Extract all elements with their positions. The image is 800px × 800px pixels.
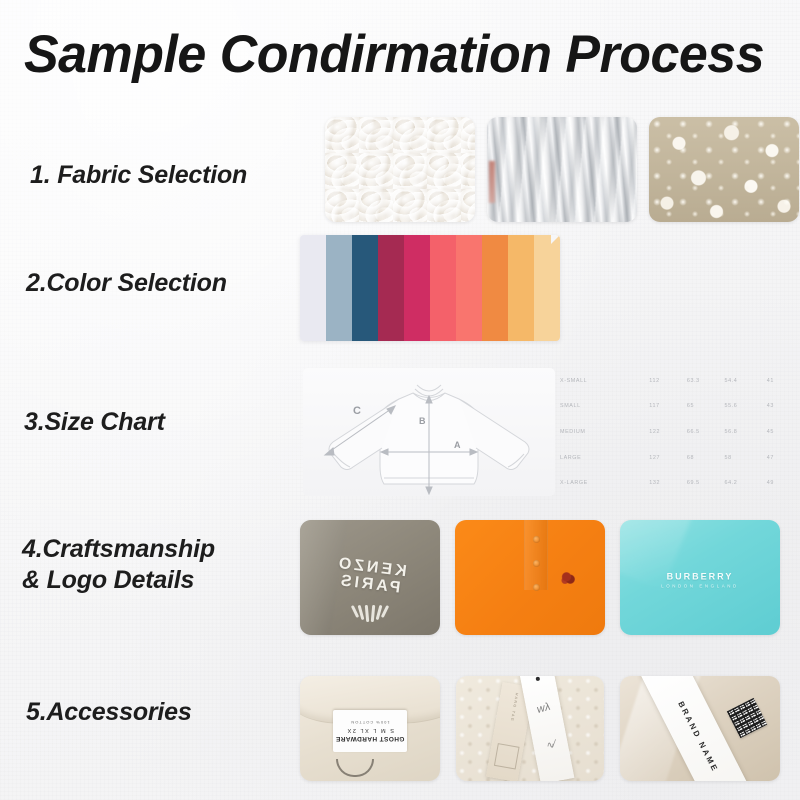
size-table-cell: X-SMALL (560, 378, 649, 384)
size-table-cell: 64.2 (724, 480, 766, 486)
measure-label-c: C (353, 405, 361, 417)
embroidered-crest-logo (560, 572, 575, 584)
size-table-cell: 65 (687, 403, 725, 409)
color-swatch-slate-blue (326, 235, 352, 341)
size-table-cell: SMALL (560, 403, 649, 409)
size-table-row: MEDIUM12266.556.845 (560, 423, 795, 441)
sweater-technical-drawing: A B C (303, 368, 555, 496)
size-table-cell: 47 (767, 455, 795, 461)
polo-button-bottom (533, 584, 540, 591)
color-swatch-magenta-pink (404, 235, 430, 341)
size-table-row: X-SMALL11263.354.441 (560, 372, 795, 390)
fabric-tile-chunky-cable-knit (325, 117, 475, 222)
measure-label-b: B (419, 416, 426, 426)
size-table-cell: 58 (724, 455, 766, 461)
size-chart-diagram-panel: A B C (303, 368, 555, 496)
hang-tag-signature-bottom: ∿⁄ (544, 739, 557, 753)
care-label-care-text: 100% COTTON (350, 720, 389, 725)
color-swatch-deep-teal (352, 235, 378, 341)
color-swatch-salmon (456, 235, 482, 341)
size-table-cell: 43 (767, 403, 795, 409)
wave-texture-overlay (487, 117, 637, 222)
craft-tile-orange-polo-embroidery (455, 520, 605, 635)
size-table-cell: 122 (649, 429, 687, 435)
drawcord (336, 759, 374, 777)
craft-tile-kenzo-paris-print: KENZO PARIS (300, 520, 440, 635)
brand-name-text: BRAND NAME (676, 699, 720, 773)
knit-braid-texture (325, 117, 475, 222)
polo-placket (524, 520, 548, 590)
hang-tag-kraft-box (494, 744, 520, 771)
color-palette-strip (300, 235, 560, 341)
size-table-cell: 117 (649, 403, 687, 409)
size-table-cell: X-LARGE (560, 480, 649, 486)
size-table-cell: 66.5 (687, 429, 725, 435)
infographic-page: Sample Condirmation Process 1. Fabric Se… (0, 0, 800, 800)
accessory-tile-brand-name-tag: BRAND NAME (620, 676, 780, 781)
measure-label-a: A (454, 440, 461, 450)
size-table-cell: 132 (649, 480, 687, 486)
size-table-cell: 127 (649, 455, 687, 461)
page-title: Sample Condirmation Process (24, 28, 769, 81)
step-label-color-selection: 2.Color Selection (26, 268, 227, 299)
burberry-chest-print: BURBERRY LONDON ENGLAND (661, 571, 739, 588)
size-table-cell: 63.3 (687, 378, 725, 384)
size-table-cell: 54.4 (724, 378, 766, 384)
size-table-row: SMALL1176555.643 (560, 397, 795, 415)
color-swatch-light-orange (508, 235, 534, 341)
kenzo-print-text: KENZO PARIS (333, 555, 408, 597)
color-swatch-coral-red (430, 235, 456, 341)
hang-tag-hole (535, 676, 540, 681)
hang-tag-kraft-text: HANG TAG (510, 693, 519, 723)
polo-button-middle (533, 560, 540, 567)
size-table-cell: LARGE (560, 455, 649, 461)
size-table-cell: 45 (767, 429, 795, 435)
step-label-size-chart: 3.Size Chart (24, 407, 165, 438)
polo-button-top (533, 536, 540, 543)
qr-code-icon (727, 698, 767, 738)
accessory-tile-hang-tags: HANG TAG wλ ∿⁄ (456, 676, 604, 781)
size-table-cell: 56.8 (724, 429, 766, 435)
burberry-print-line-1: BURBERRY (661, 571, 739, 581)
step-label-craftsmanship-logo-details: 4.Craftsmanship & Logo Details (22, 534, 215, 597)
size-table-row: LARGE127685847 (560, 449, 795, 467)
fabric-tile-beige-boucle (649, 117, 799, 222)
wave-red-accent (489, 161, 495, 203)
size-table-cell: 41 (767, 378, 795, 384)
color-swatch-wine-crimson (378, 235, 404, 341)
step-label-fabric-selection: 1. Fabric Selection (30, 160, 247, 191)
step-label-accessories: 5.Accessories (26, 697, 192, 728)
care-label-brand: GHOST HARDWARE (336, 735, 405, 742)
burberry-print-line-2: LONDON ENGLAND (661, 583, 739, 588)
size-table-cell: 69.5 (687, 480, 725, 486)
size-table-cell: 55.6 (724, 403, 766, 409)
boucle-nub-texture (649, 117, 799, 222)
size-table-cell: 68 (687, 455, 725, 461)
color-swatch-orange (482, 235, 508, 341)
color-swatch-peach-tan (534, 235, 560, 341)
color-swatch-pale-lavender (300, 235, 326, 341)
hang-tag-signature-top: wλ (536, 701, 552, 716)
care-label-sizes: S M L XL 2X (346, 727, 394, 733)
size-table-cell: 112 (649, 378, 687, 384)
kenzo-ray-graphic (354, 605, 387, 622)
size-table-row: X-LARGE13269.564.249 (560, 474, 795, 492)
fabric-tile-grey-wave-weave (487, 117, 637, 222)
size-table-cell: MEDIUM (560, 429, 649, 435)
care-label-tag: GHOST HARDWARE S M L XL 2X 100% COTTON (333, 710, 407, 752)
size-table-cell: 49 (767, 480, 795, 486)
craft-tile-burberry-london-print: BURBERRY LONDON ENGLAND (620, 520, 780, 635)
size-measurement-table: X-SMALL11263.354.441SMALL1176555.643MEDI… (560, 368, 795, 496)
accessory-tile-woven-care-label: GHOST HARDWARE S M L XL 2X 100% COTTON (300, 676, 440, 781)
